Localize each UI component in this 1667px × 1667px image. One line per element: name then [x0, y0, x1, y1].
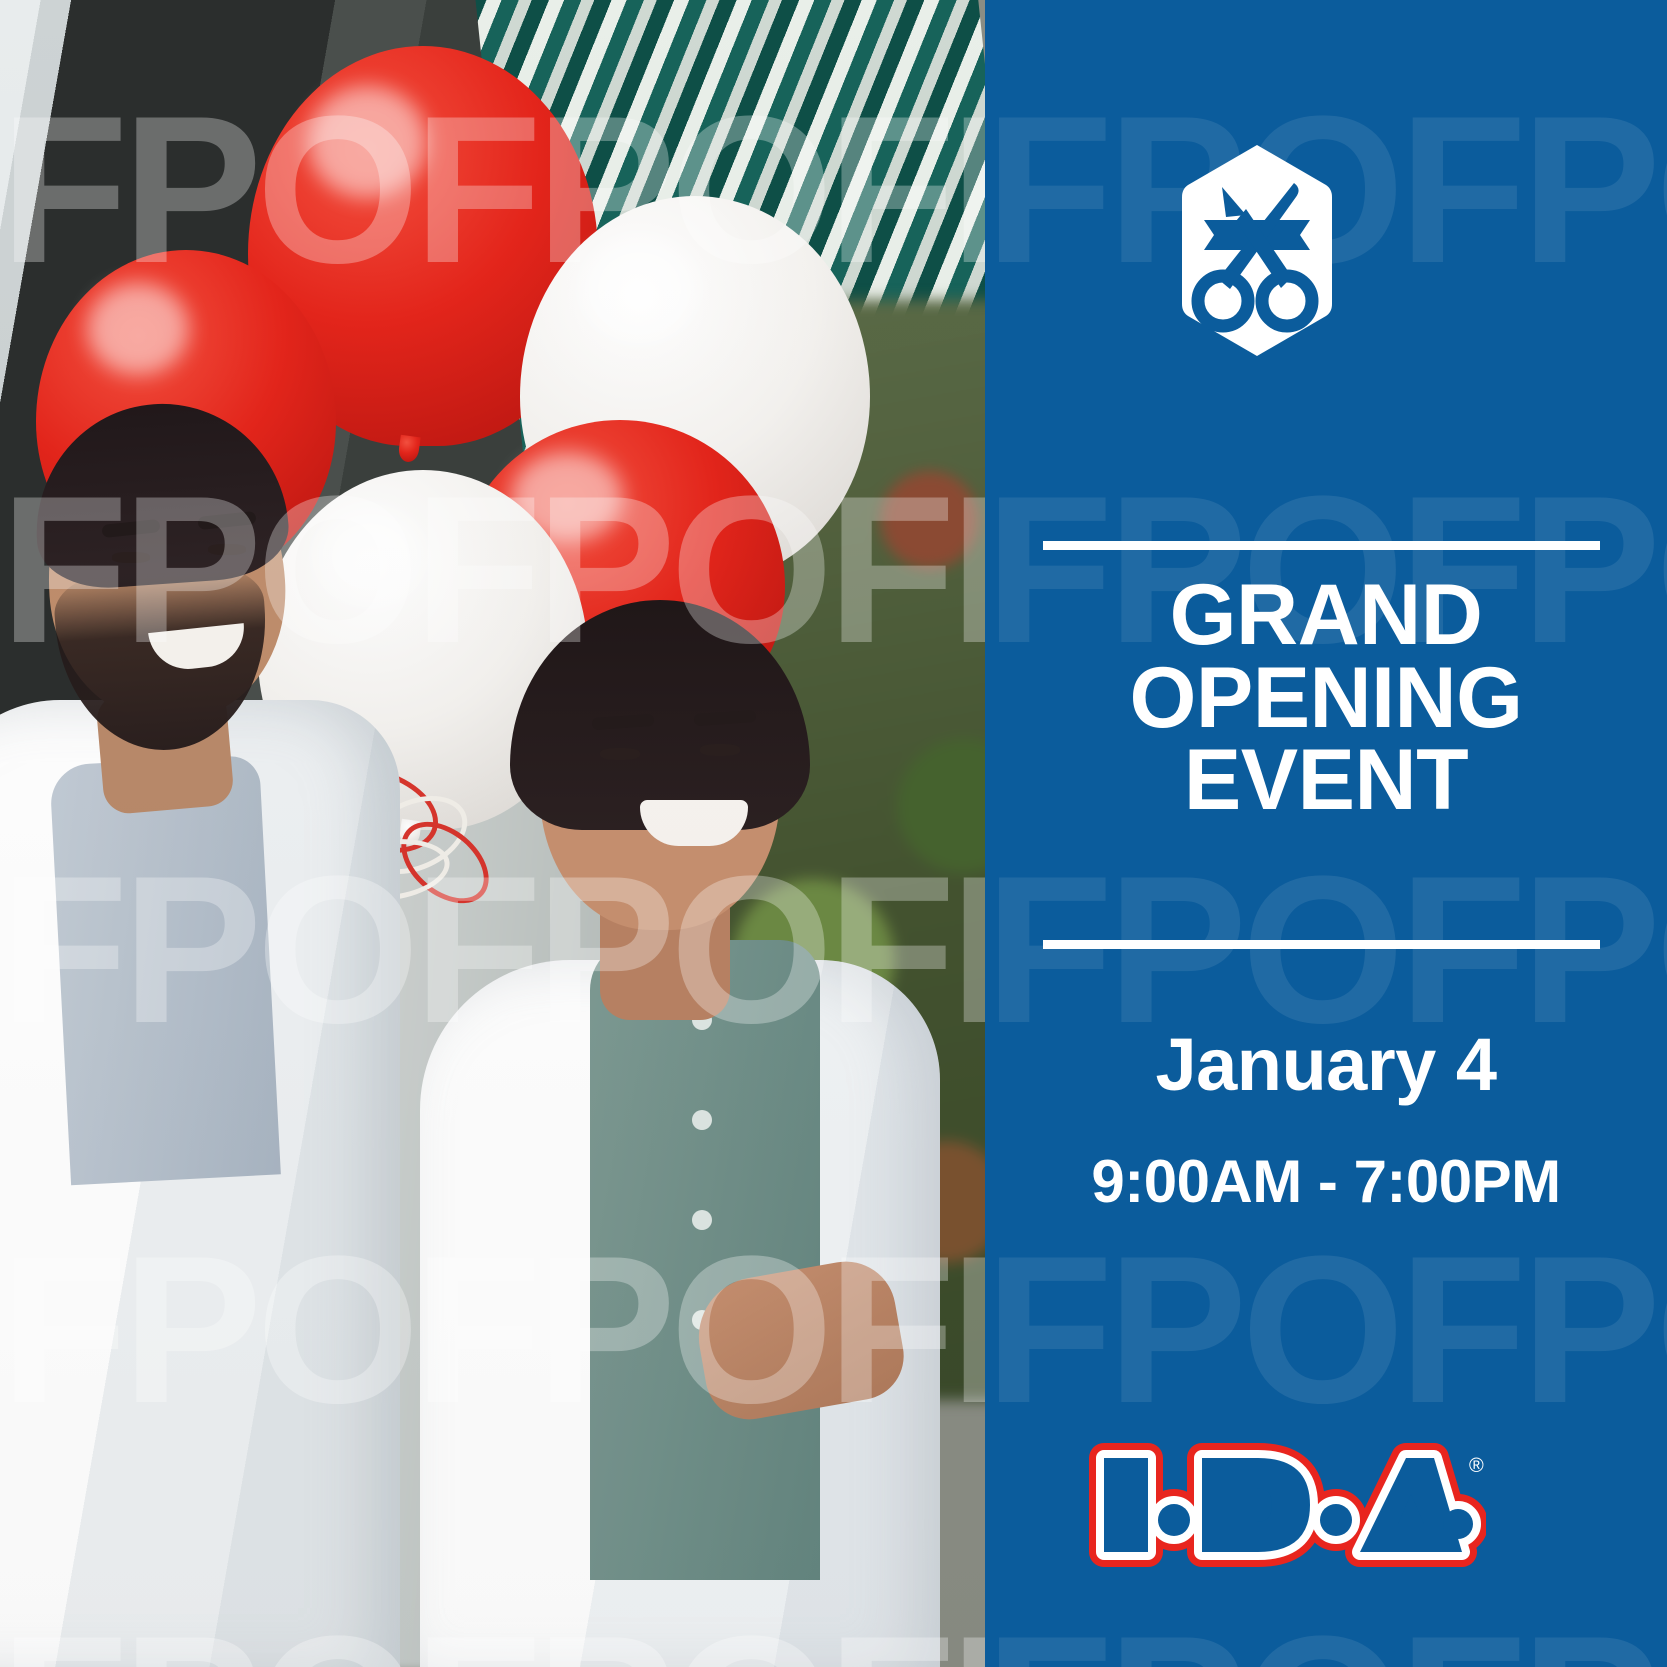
headline-line-2: OPENING — [985, 657, 1667, 740]
watermark-text: FPO — [1399, 1225, 1667, 1435]
headline-line-1: GRAND — [985, 574, 1667, 657]
divider-bottom — [1043, 940, 1600, 949]
grand-opening-poster: FPO FPO FPO FPO FPO FPO FPO FPO FPO FPO … — [0, 0, 1667, 1667]
scissors-cutting-ribbon-icon — [1182, 143, 1332, 358]
ida-letterforms — [1104, 1458, 1473, 1552]
storefront-photo: FPO FPO FPO FPO FPO FPO FPO FPO FPO FPO … — [0, 0, 985, 1667]
divider-top — [1043, 541, 1600, 550]
watermark-text: FPO — [1399, 1605, 1667, 1667]
watermark-text: FPO — [985, 1225, 1399, 1435]
registered-trademark-mark: ® — [1469, 1455, 1484, 1477]
watermark-text: FPO — [1399, 85, 1667, 295]
headline-line-3: EVENT — [985, 739, 1667, 822]
event-date: January 4 — [985, 1028, 1667, 1102]
event-time: 9:00AM - 7:00PM — [985, 1152, 1667, 1212]
watermark-text: FPO — [985, 1605, 1399, 1667]
photo-color-grade — [0, 0, 985, 1667]
page-title: GRAND OPENING EVENT — [985, 574, 1667, 822]
ida-logo: ® — [1086, 1432, 1486, 1582]
